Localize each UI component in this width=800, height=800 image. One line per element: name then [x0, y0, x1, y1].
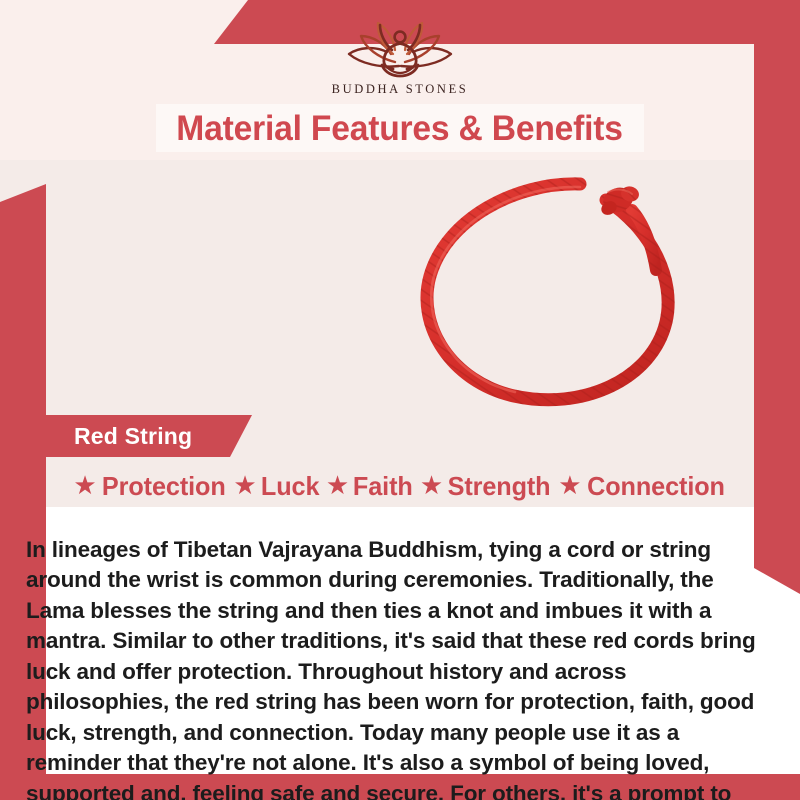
frame-strip-right	[754, 0, 800, 594]
material-label: Red String	[74, 423, 192, 450]
star-icon: ★	[558, 472, 581, 498]
star-icon: ★	[420, 472, 443, 498]
material-label-banner: Red String	[24, 415, 252, 457]
benefit-item: ★ Faith	[326, 471, 414, 502]
benefit-item: ★ Strength	[420, 471, 552, 502]
benefit-label: Connection	[587, 471, 725, 502]
red-string-bracelet-illustration	[394, 166, 734, 416]
benefit-label: Strength	[448, 471, 551, 502]
product-image	[46, 160, 754, 410]
frame-band-top	[214, 0, 800, 44]
benefit-label: Protection	[102, 471, 226, 502]
description-paragraph: In lineages of Tibetan Vajrayana Buddhis…	[26, 535, 770, 800]
benefit-item: ★ Connection	[558, 471, 726, 502]
benefit-label: Luck	[261, 471, 319, 502]
star-icon: ★	[233, 472, 256, 498]
benefits-list: ★ Protection ★ Luck ★ Faith ★ Strength ★…	[46, 466, 754, 506]
star-icon: ★	[73, 472, 96, 498]
star-icon: ★	[326, 472, 349, 498]
page-title: Material Features & Benefits	[177, 111, 624, 146]
benefit-item: ★ Protection	[73, 471, 227, 502]
title-banner: Material Features & Benefits	[156, 104, 644, 152]
benefit-item: ★ Luck	[233, 471, 320, 502]
poster-root: BUDDHA STONES Material Features & Benefi…	[0, 0, 800, 800]
benefit-label: Faith	[353, 471, 413, 502]
